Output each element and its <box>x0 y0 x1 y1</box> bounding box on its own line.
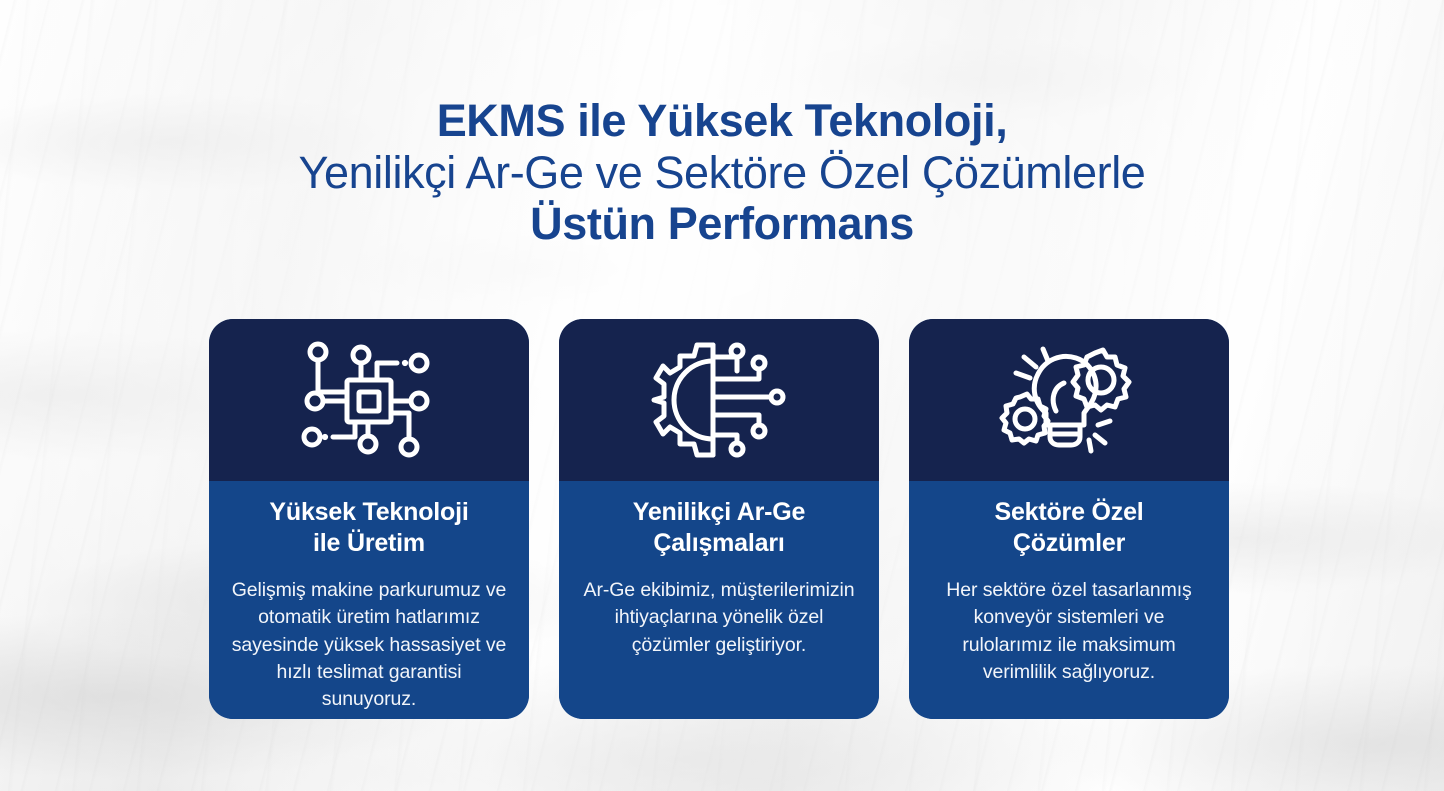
page-title: EKMS ile Yüksek Teknoloji, Yenilikçi Ar-… <box>0 96 1444 249</box>
feature-card[interactable]: Yüksek Teknoloji ile Üretim Gelişmiş mak… <box>209 319 529 719</box>
card-title-line-2: Çalışmaları <box>653 529 784 557</box>
card-title: Sektöre Özel Çözümler <box>927 497 1211 558</box>
card-description: Ar-Ge ekibimiz, müşterilerimizin ihtiyaç… <box>577 577 861 659</box>
gear-circuit-icon <box>649 339 789 461</box>
card-body: Yüksek Teknoloji ile Üretim Gelişmiş mak… <box>209 481 529 719</box>
card-title-line-1: Yenilikçi Ar-Ge <box>633 498 806 526</box>
feature-card[interactable]: Yenilikçi Ar-Ge Çalışmaları Ar-Ge ekibim… <box>559 319 879 719</box>
card-title-line-1: Yüksek Teknoloji <box>269 498 468 526</box>
promo-banner: EKMS ile Yüksek Teknoloji, Yenilikçi Ar-… <box>0 0 1444 791</box>
card-body: Yenilikçi Ar-Ge Çalışmaları Ar-Ge ekibim… <box>559 481 879 719</box>
card-description: Gelişmiş makine parkurumuz ve otomatik ü… <box>227 577 511 713</box>
headline-line-3: Üstün Performans <box>0 199 1444 249</box>
card-description: Her sektöre özel tasarlanmış konveyör si… <box>927 577 1211 686</box>
headline-line-2: Yenilikçi Ar-Ge ve Sektöre Özel Çözümler… <box>0 148 1444 198</box>
card-body: Sektöre Özel Çözümler Her sektöre özel t… <box>909 481 1229 719</box>
card-icon-area <box>209 319 529 481</box>
card-title: Yüksek Teknoloji ile Üretim <box>227 497 511 558</box>
card-title-line-1: Sektöre Özel <box>994 498 1143 526</box>
feature-card[interactable]: Sektöre Özel Çözümler Her sektöre özel t… <box>909 319 1229 719</box>
headline-line-1: EKMS ile Yüksek Teknoloji, <box>0 96 1444 146</box>
lightbulb-gears-icon <box>998 339 1140 461</box>
card-title-line-2: ile Üretim <box>313 529 425 557</box>
card-title-line-2: Çözümler <box>1013 529 1125 557</box>
card-icon-area <box>559 319 879 481</box>
card-icon-area <box>909 319 1229 481</box>
microchip-circuit-icon <box>299 340 439 460</box>
feature-card-list: Yüksek Teknoloji ile Üretim Gelişmiş mak… <box>209 319 1229 719</box>
card-title: Yenilikçi Ar-Ge Çalışmaları <box>577 497 861 558</box>
